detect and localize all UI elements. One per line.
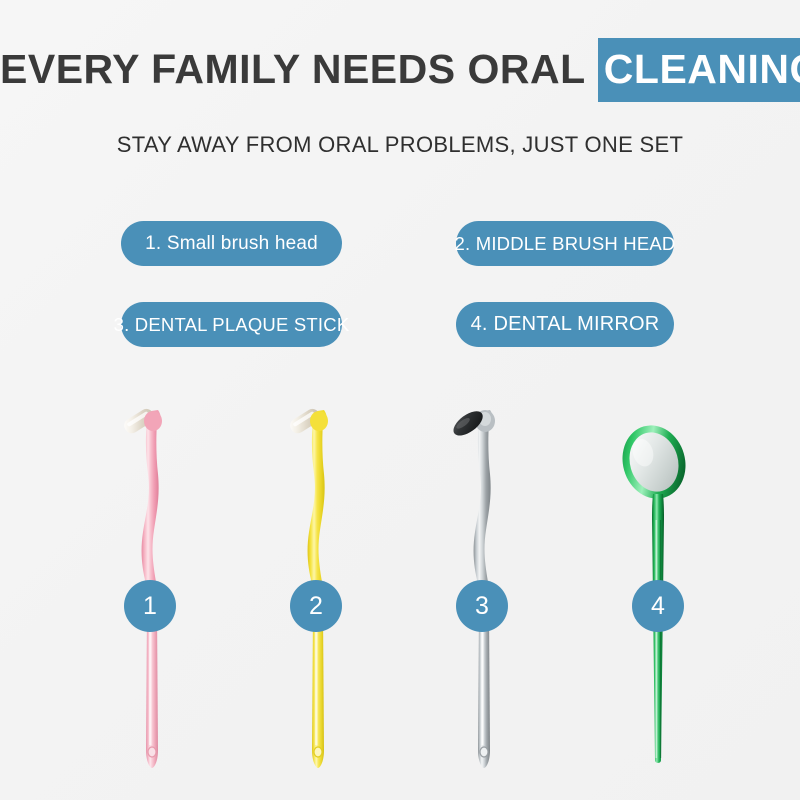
yellow-brush-head-base [310,411,328,431]
yellow-handle-highlight [315,615,318,745]
badge-middle-brush-head: 2. MIDDLE BRUSH HEAD [456,221,674,266]
page-title: EVERY FAMILY NEEDS ORAL CLEANING TOOLS [0,38,800,102]
dental-mirror-handle [652,518,664,763]
poster-canvas: EVERY FAMILY NEEDS ORAL CLEANING TOOLS S… [0,0,800,800]
number-badge-1: 1 [124,580,176,632]
pink-brush-hang-hole [148,747,156,757]
badge-dental-mirror: 4. DENTAL MIRROR [456,302,674,347]
number-badge-4: 4 [632,580,684,632]
title-highlight: CLEANING [598,38,800,102]
title-part-1: EVERY FAMILY NEEDS ORAL [0,46,597,92]
plaque-stick-handle [478,612,490,768]
yellow-brush-hang-hole [314,747,322,757]
pink-brush-handle [146,612,158,768]
number-badge-3: 3 [456,580,508,632]
badge-small-brush-head: 1. Small brush head [121,221,342,266]
dental-mirror-neck [652,494,664,520]
dental-mirror-head [614,418,694,506]
yellow-brush-handle [312,612,324,768]
pink-handle-highlight [149,615,152,745]
badge-dental-plaque-stick: 3. DENTAL PLAQUE STICK [121,302,342,347]
dental-mirror-handle-highlight [656,520,658,758]
plaque-stick-handle-highlight [482,615,484,745]
number-badge-2: 2 [290,580,342,632]
pink-brush-head-base [144,411,162,431]
dental-mirror-handle-shadow [660,520,661,758]
plaque-stick-hang-hole [480,747,488,757]
page-subtitle: STAY AWAY FROM ORAL PROBLEMS, JUST ONE S… [0,132,800,158]
